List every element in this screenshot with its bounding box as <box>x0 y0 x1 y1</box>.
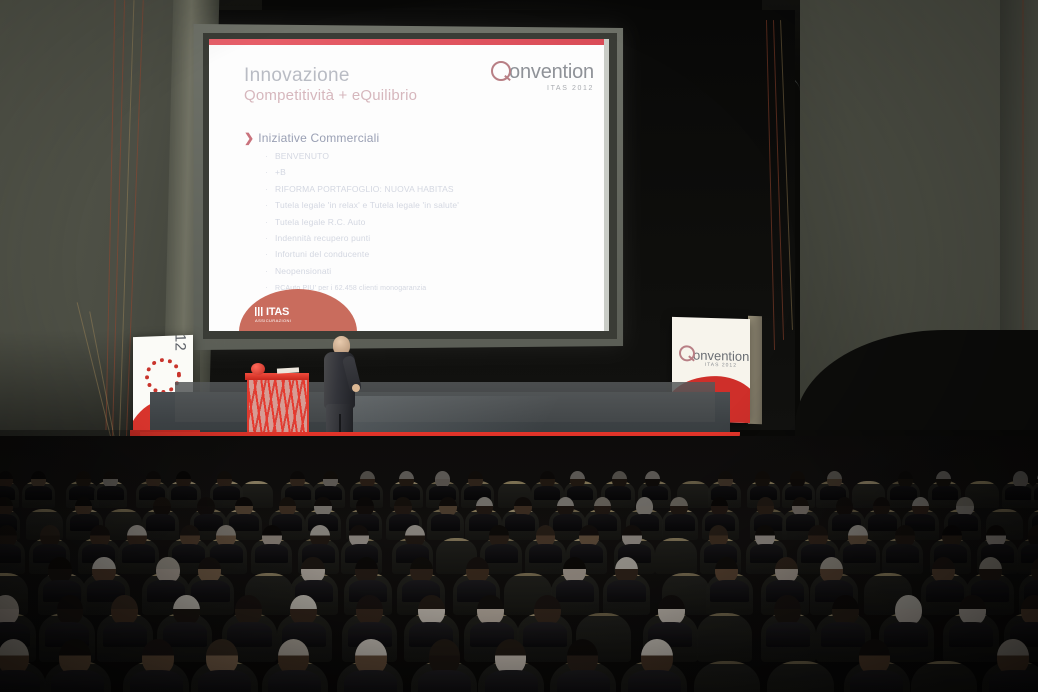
slide-title: Innovazione <box>244 65 350 87</box>
audience-member <box>111 595 138 625</box>
audience-member <box>418 595 445 625</box>
audience-member-shoulders <box>605 486 631 500</box>
audience-member <box>173 595 200 625</box>
audience-member-shoulders <box>268 670 321 692</box>
audience-member-shoulders <box>418 670 471 692</box>
audience-member-shoulders <box>255 544 288 563</box>
audience-member-shoulders <box>97 486 123 500</box>
audience-member-shoulders <box>529 544 562 563</box>
chevron-right-icon: ❯ <box>244 131 254 145</box>
audience-member-shoulders <box>51 670 104 692</box>
auditorium-seat <box>655 538 696 574</box>
audience-member-shoulders <box>710 580 748 602</box>
conference-photo-scene: Innovazione Qompetitività + eQuilibrio o… <box>0 0 1038 692</box>
audience-member <box>0 639 29 675</box>
audience-member <box>658 595 685 625</box>
itas-logo: ITAS ASSICURAZIONI <box>255 307 291 323</box>
itas-mark-icon <box>255 307 264 316</box>
audience-member-shoulders <box>0 544 21 563</box>
audience-member-shoulders <box>103 622 147 647</box>
audience-member <box>355 639 386 675</box>
banner-edition-label: ITAS 2012 <box>705 362 737 369</box>
audience-member-shoulders <box>850 670 903 692</box>
audience-member-shoulders <box>890 486 916 500</box>
audience-member-shoulders <box>628 670 681 692</box>
audience-member-shoulders <box>0 670 40 692</box>
qonvention-logo-brand: onvention <box>509 61 594 83</box>
slide-subtitle: Qompetitività + eQuilibrio <box>244 87 417 104</box>
auditorium-seat <box>697 613 752 661</box>
audience-member-shoulders <box>607 580 645 602</box>
audience-member <box>356 595 383 625</box>
speaker-hand <box>352 384 360 392</box>
audience-member <box>895 595 922 625</box>
slide-right-accent-bar <box>604 39 609 331</box>
slide-top-accent-bar <box>209 39 609 45</box>
list-item: ·BENVENUTO <box>265 151 595 161</box>
q-circle-mark-icon <box>491 61 511 81</box>
audience-member <box>641 639 672 675</box>
audience-member-shoulders <box>932 486 958 500</box>
audience-member <box>832 595 859 625</box>
audience-member-shoulders <box>505 514 534 531</box>
audience-member-shoulders <box>146 514 175 531</box>
audience-member-shoulders <box>989 670 1038 692</box>
audience-member-shoulders <box>523 622 567 647</box>
itas-logo-tagline: ASSICURAZIONI <box>255 319 291 323</box>
audience-member-shoulders <box>843 544 876 563</box>
slide-section-heading-label: Iniziative Commerciali <box>258 131 379 145</box>
audience-member <box>57 595 84 625</box>
list-item: ·RIFORMA PORTAFOGLIO: NUOVA HABITAS <box>265 184 595 194</box>
audience-member <box>534 595 561 625</box>
right-banner-side-panel <box>748 316 762 424</box>
list-item: ·+B <box>265 167 595 177</box>
audience-member <box>567 639 598 675</box>
list-item: ·Indennità recupero punti <box>265 233 595 243</box>
audience-member <box>429 639 460 675</box>
audience-member-shoulders <box>821 622 865 647</box>
audience-member-shoulders <box>567 486 593 500</box>
audience-member-shoulders <box>171 486 197 500</box>
audience-member-shoulders <box>534 486 560 500</box>
list-item: ·Tutela legale R.C. Auto <box>265 217 595 227</box>
audience-member-shoulders <box>25 486 51 500</box>
audience-member-shoulders <box>665 514 694 531</box>
slide-bullet-list: ·BENVENUTO ·+B ·RIFORMA PORTAFOGLIO: NUO… <box>265 151 595 299</box>
audience-member-shoulders <box>1034 486 1038 500</box>
audience-member-shoulders <box>485 544 518 563</box>
slide-section-heading: ❯Iniziative Commerciali <box>244 131 379 145</box>
audience-member-shoulders <box>213 486 239 500</box>
audience-member-shoulders <box>557 670 610 692</box>
audience-member-shoulders <box>198 670 251 692</box>
audience-member <box>1021 595 1038 625</box>
audience-member <box>774 595 801 625</box>
audience-member <box>495 639 526 675</box>
audience-member <box>206 639 237 675</box>
audience-member-shoulders <box>886 544 919 563</box>
audience-member <box>959 595 986 625</box>
q-circle-mark-icon <box>679 345 695 361</box>
audience-member <box>59 639 90 675</box>
audience-member-shoulders <box>227 622 271 647</box>
audience-member <box>997 639 1028 675</box>
audience-member <box>477 595 504 625</box>
audience-member-shoulders <box>122 544 155 563</box>
audience-member <box>290 595 317 625</box>
list-item: ·Neopensionati <box>265 266 595 276</box>
audience-member-shoulders <box>949 622 993 647</box>
qonvention-logo: onvention ITAS 2012 <box>491 61 594 92</box>
audience-member-shoulders <box>868 514 897 531</box>
list-item: ·Infortuni del conducente <box>265 249 595 259</box>
audience-member <box>142 639 173 675</box>
banner-year-label: 2012 <box>171 335 188 352</box>
list-item: ·Tutela legale 'in relax' e Tutela legal… <box>265 200 595 210</box>
presentation-slide: Innovazione Qompetitività + eQuilibrio o… <box>209 39 609 331</box>
audience-member-shoulders <box>553 514 582 531</box>
audience-member-shoulders <box>344 670 397 692</box>
audience-member-shoulders <box>485 670 538 692</box>
audience-member-shoulders <box>431 514 460 531</box>
audience-member-shoulders <box>884 622 928 647</box>
qonvention-logo-edition: ITAS 2012 <box>491 85 594 92</box>
itas-logo-name: ITAS <box>266 306 289 318</box>
audience-member-shoulders <box>130 670 183 692</box>
audience-member <box>278 639 309 675</box>
audience-member <box>859 639 890 675</box>
audience-member-shoulders <box>556 580 594 602</box>
audience-member-shoulders <box>191 580 229 602</box>
audience-member <box>235 595 262 625</box>
red-ball-prop <box>251 363 265 375</box>
audience-member-shoulders <box>926 580 964 602</box>
audience-member-shoulders <box>766 622 810 647</box>
audience-member-shoulders <box>1005 486 1031 500</box>
